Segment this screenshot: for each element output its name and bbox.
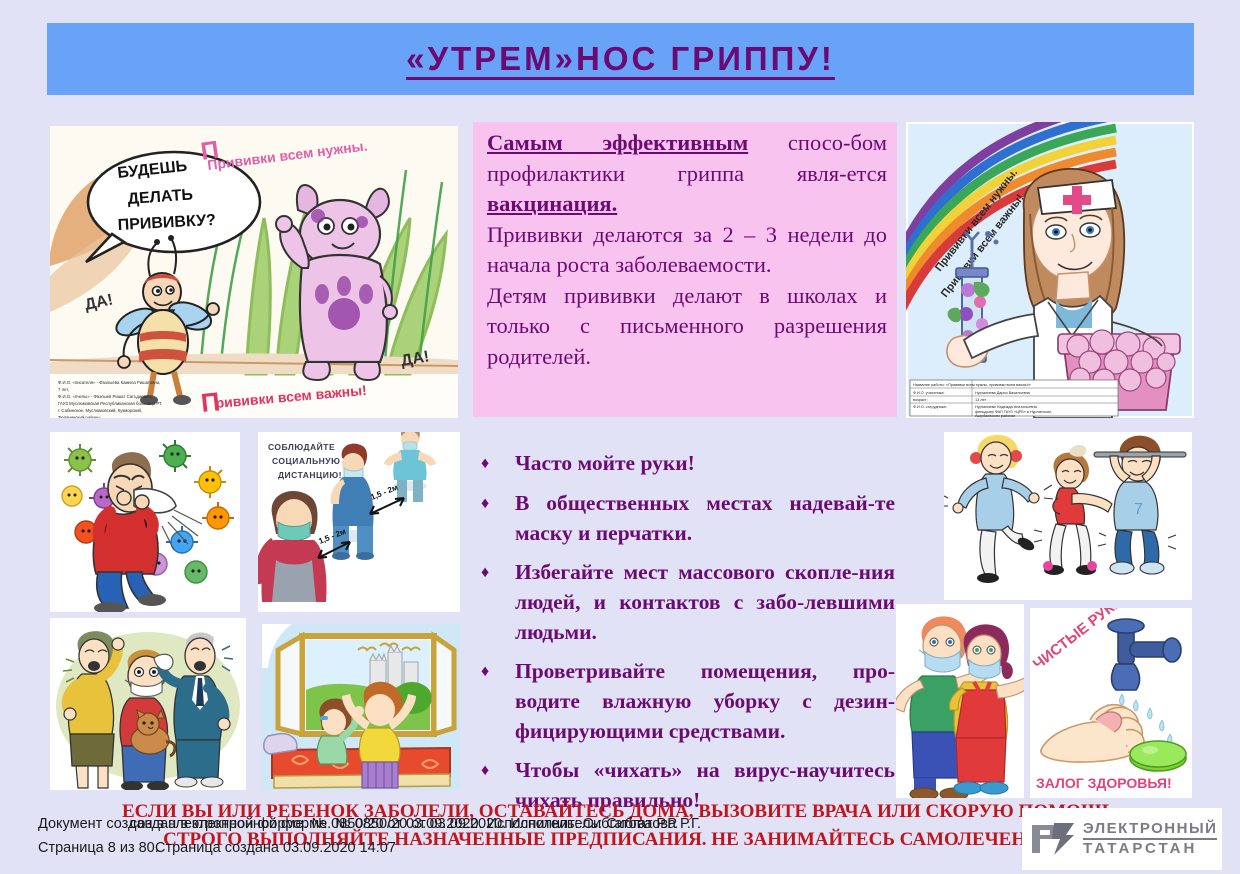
distance-caption-line1: СОБЛЮДАЙТЕ	[268, 441, 335, 452]
illustration-sneezing-man	[50, 432, 240, 612]
title-banner: «УТРЕМ»НОС ГРИППУ!	[47, 23, 1194, 95]
distance-caption-line3: ДИСТАНЦИЮ!	[278, 470, 342, 480]
list-item: ♦ Часто мойте руки!	[475, 448, 895, 479]
illustration-kids-in-masks	[896, 604, 1024, 798]
sick-family-art	[50, 618, 246, 790]
emphasis-effective: Самым эффективным	[487, 130, 748, 155]
svg-text:Аксубаевском районах: Аксубаевском районах	[975, 414, 1015, 418]
logo-line-2: ТАТАРСТАН	[1083, 838, 1217, 858]
pink-paragraph-3: Детям прививки делают в шко­лах и только…	[487, 281, 887, 373]
illustration-sick-family	[50, 618, 246, 790]
distance-caption-line2: СОЦИАЛЬНУЮ	[272, 456, 340, 466]
logo-text: ЭЛЕКТРОННЫЙ ТАТАРСТАН	[1083, 820, 1217, 858]
bullet-diamond-icon: ♦	[475, 656, 515, 687]
illustration-clean-hands: ЧИСТЫЕ РУКИ–	[1030, 608, 1192, 798]
illustration-nurse: Прививки всем нужны. Прививки всем важны…	[906, 122, 1194, 418]
vaccination-info-panel: Самым эффективным спосо-бом профилактики…	[473, 122, 897, 417]
svg-text:Ф.И.О. участника:: Ф.И.О. участника:	[913, 391, 945, 395]
svg-text:7: 7	[1134, 501, 1143, 518]
illustration-social-distance: СОБЛЮДАЙТЕ СОЦИАЛЬНУЮ ДИСТАНЦИЮ!	[258, 432, 460, 612]
emphasis-vaccination: вакцинация.	[487, 191, 617, 216]
list-item-text: В общественных местах надевай-те маску и…	[515, 488, 895, 548]
illustration-exercising-kids: 7	[944, 432, 1192, 600]
svg-text:7 лет,: 7 лет,	[58, 387, 69, 392]
list-item-text: Проветривайте помещения, про-водите влаж…	[515, 656, 895, 746]
open-window-art	[262, 624, 460, 790]
prevention-tips-list: ♦ Часто мойте руки! ♦ В общественных мес…	[475, 448, 895, 824]
slide-page: «УТРЕМ»НОС ГРИППУ!	[0, 0, 1240, 874]
svg-text:Название работы: «Прививки все: Название работы: «Прививки всем нужны, п…	[913, 383, 1031, 387]
pink-paragraph-1: Самым эффективным спосо-бом профилактики…	[487, 128, 887, 220]
bullet-diamond-icon: ♦	[475, 448, 515, 479]
svg-text:Ф.И.О. «пчелы» - Фазлыев Ришат: Ф.И.О. «пчелы» - Фазлыев Ришат Сагъдиеви…	[58, 394, 152, 399]
svg-text:возраст:: возраст:	[913, 398, 928, 402]
svg-text:13 лет: 13 лет	[975, 398, 986, 402]
logo-line-1: ЭЛЕКТРОННЫЙ	[1083, 820, 1217, 838]
nurse-art: Прививки всем нужны. Прививки всем важны…	[906, 122, 1194, 418]
kids-in-masks-art	[896, 604, 1024, 798]
exercising-kids-art: 7	[944, 432, 1192, 600]
svg-text:Ф.И.О. «писателя» - Фазлыева К: Ф.И.О. «писателя» - Фазлыева Камила Риша…	[58, 380, 160, 385]
svg-text:Нургалиева Надежда Анатольевна: Нургалиева Надежда Анатольевна,	[975, 405, 1038, 409]
list-item: ♦ В общественных местах надевай-те маску…	[475, 488, 895, 548]
list-item: ♦ Избегайте мест массового скопле-ния лю…	[475, 557, 895, 647]
page-title: «УТРЕМ»НОС ГРИППУ!	[406, 40, 835, 78]
bullet-diamond-icon: ♦	[475, 557, 515, 588]
social-distance-art: СОБЛЮДАЙТЕ СОЦИАЛЬНУЮ ДИСТАНЦИЮ!	[258, 432, 460, 612]
clean-hands-caption-bottom: ЗАЛОГ ЗДОРОВЬЯ!	[1036, 775, 1172, 791]
electronic-tatarstan-logo: ЭЛЕКТРОННЫЙ ТАТАРСТАН	[1022, 808, 1222, 870]
svg-text:П: П	[199, 386, 221, 418]
list-item-text: Избегайте мест массового скопле-ния люде…	[515, 557, 895, 647]
list-item-text: Часто мойте руки!	[515, 448, 895, 478]
illustration-bee-and-monster: БУДЕШЬ ДЕЛАТЬ ПРИВИВКУ? Прививки всем ну…	[50, 126, 458, 418]
svg-text:ГАУЗ Муслюмовская Республиканс: ГАУЗ Муслюмовская Республиканская больни…	[58, 401, 162, 406]
illustration-open-window	[262, 624, 460, 790]
sneezing-man-art	[50, 432, 240, 612]
svg-text:Нургалиева Дарья Васильевна: Нургалиева Дарья Васильевна	[975, 391, 1031, 395]
tatarstan-logo-icon	[1030, 821, 1076, 857]
svg-text:Тюлячинский районы.: Тюлячинский районы.	[58, 415, 102, 418]
clean-hands-art: ЧИСТЫЕ РУКИ–	[1030, 608, 1192, 798]
list-item: ♦ Проветривайте помещения, про-водите вл…	[475, 656, 895, 746]
svg-text:г. Сабинское, Муслюмовский, Ку: г. Сабинское, Муслюмовский, Кукморский,	[58, 408, 142, 413]
bullet-diamond-icon: ♦	[475, 755, 515, 786]
bullet-diamond-icon: ♦	[475, 488, 515, 519]
svg-text:Ф.И.О. сотрудника:: Ф.И.О. сотрудника:	[913, 405, 947, 409]
pink-paragraph-2: Прививки делаются за 2 – 3 не­дели до на…	[487, 220, 887, 281]
bee-monster-art: БУДЕШЬ ДЕЛАТЬ ПРИВИВКУ? Прививки всем ну…	[50, 126, 458, 418]
